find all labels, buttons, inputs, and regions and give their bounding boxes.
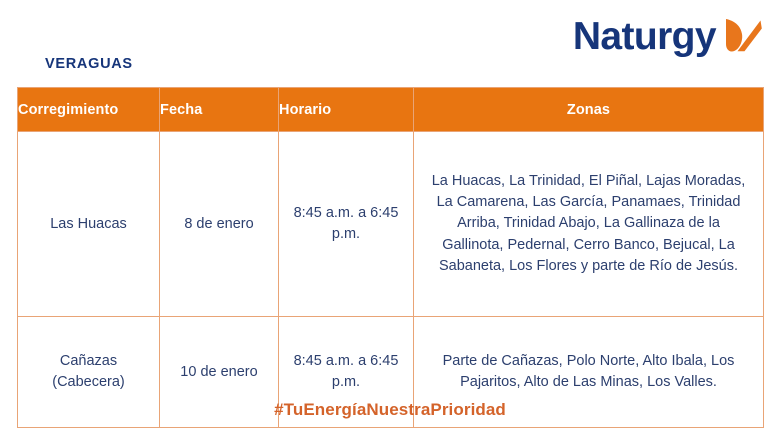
column-header-corregimiento: Corregimiento (18, 88, 160, 132)
table-row: Las Huacas 8 de enero 8:45 a.m. a 6:45 p… (18, 132, 764, 317)
table-header-row: Corregimiento Fecha Horario Zonas (18, 88, 764, 132)
outage-table: Corregimiento Fecha Horario Zonas Las Hu… (17, 87, 764, 428)
cell-horario: 8:45 a.m. a 6:45 p.m. (279, 132, 414, 317)
page-header: Naturgy VERAGUAS (0, 0, 780, 80)
cell-fecha: 8 de enero (160, 132, 279, 317)
cell-corregimiento: Las Huacas (18, 132, 160, 317)
column-header-fecha: Fecha (160, 88, 279, 132)
column-header-zonas: Zonas (414, 88, 764, 132)
table-header: Corregimiento Fecha Horario Zonas (18, 88, 764, 132)
naturgy-logo: Naturgy (573, 12, 764, 60)
region-title: VERAGUAS (45, 56, 133, 72)
table-body: Las Huacas 8 de enero 8:45 a.m. a 6:45 p… (18, 132, 764, 428)
cell-zonas: La Huacas, La Trinidad, El Piñal, Lajas … (414, 132, 764, 317)
naturgy-flame-icon (720, 14, 764, 60)
footer-hashtag: #TuEnergíaNuestraPrioridad (0, 400, 780, 420)
outage-table-container: Corregimiento Fecha Horario Zonas Las Hu… (17, 87, 763, 428)
column-header-horario: Horario (279, 88, 414, 132)
brand-wordmark: Naturgy (573, 17, 716, 56)
outage-notice-page: Naturgy VERAGUAS Corregimiento Fecha Hor… (0, 0, 780, 432)
